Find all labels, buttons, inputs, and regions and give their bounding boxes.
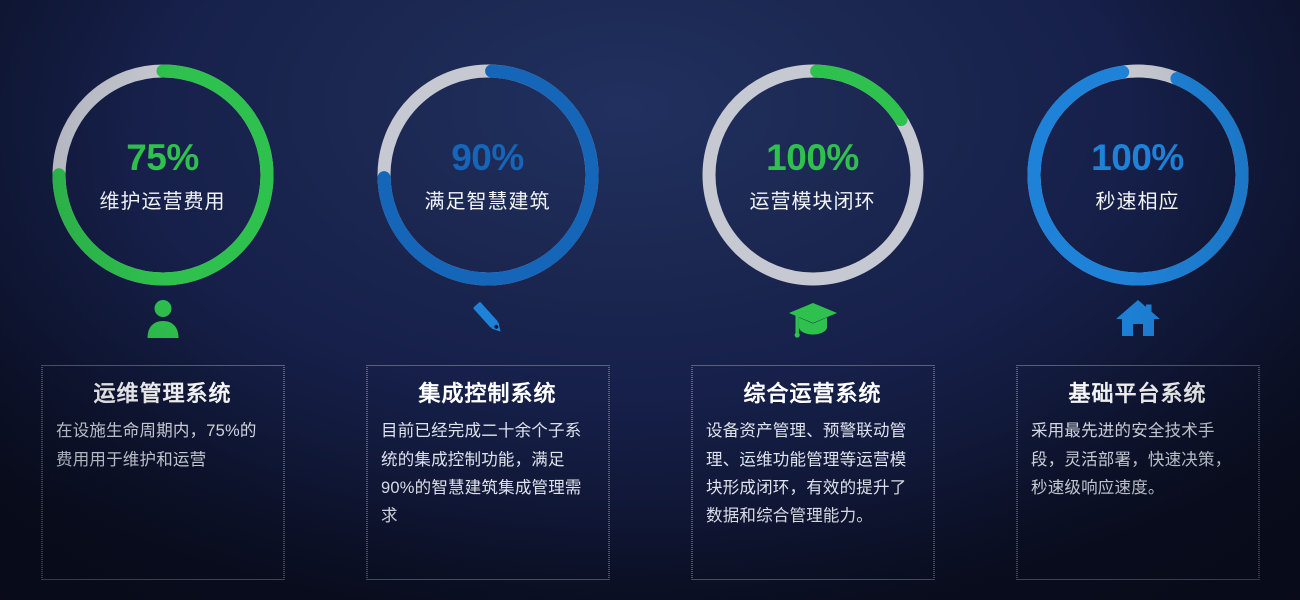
card-body-4: 采用最先进的安全技术手段，灵活部署，快速决策，秒速级响应速度。 (1031, 417, 1244, 502)
metrics-grid: 75% 维护运营费用 运维管理系统 在设施生命周期内，75%的费用用于维护和运营… (0, 0, 1300, 600)
metric-column-4: 100% 秒速相应 基础平台系统 采用最先进的安全技术手段，灵活部署，快速决策，… (975, 0, 1300, 600)
ring-label-3: 运营模块闭环 (750, 192, 876, 212)
ring-center-3: 100% 运营模块闭环 (698, 60, 928, 290)
ring-percent-3: 100% (766, 139, 859, 176)
info-card-2: 集成控制系统 目前已经完成二十余个子系统的集成控制功能，满足90%的智慧建筑集成… (366, 365, 609, 580)
ring-center-2: 90% 满足智慧建筑 (373, 60, 603, 290)
ring-center-1: 75% 维护运营费用 (48, 60, 278, 290)
card-body-2: 目前已经完成二十余个子系统的集成控制功能，满足90%的智慧建筑集成管理需求 (381, 417, 594, 531)
card-title-3: 综合运营系统 (706, 382, 919, 406)
graduation-cap-icon-svg (787, 296, 839, 340)
card-title-2: 集成控制系统 (381, 382, 594, 406)
metric-column-1: 75% 维护运营费用 运维管理系统 在设施生命周期内，75%的费用用于维护和运营 (0, 0, 325, 600)
progress-ring-3: 100% 运营模块闭环 (698, 60, 928, 290)
card-title-4: 基础平台系统 (1031, 382, 1244, 406)
progress-ring-4: 100% 秒速相应 (1023, 60, 1253, 290)
card-body-1: 在设施生命周期内，75%的费用用于维护和运营 (56, 417, 269, 474)
card-body-3: 设备资产管理、预警联动管理、运维功能管理等运营模块形成闭环，有效的提升了数据和综… (706, 417, 919, 531)
card-title-1: 运维管理系统 (56, 382, 269, 406)
metric-column-2: 90% 满足智慧建筑 集成控制系统 目前已经完成二十余个子系统的集成控制功能，满… (325, 0, 650, 600)
ring-center-4: 100% 秒速相应 (1023, 60, 1253, 290)
pencil-icon-svg (467, 297, 509, 339)
metric-column-3: 100% 运营模块闭环 综合运营系统 设备资产管理、预警联动管理、运维功能管理等… (650, 0, 975, 600)
ring-percent-4: 100% (1091, 139, 1184, 176)
pencil-icon (461, 294, 515, 342)
ring-label-2: 满足智慧建筑 (425, 192, 551, 212)
progress-ring-2: 90% 满足智慧建筑 (373, 60, 603, 290)
graduation-cap-icon (786, 294, 840, 342)
ring-percent-1: 75% (126, 139, 199, 176)
ring-percent-2: 90% (451, 139, 524, 176)
info-card-3: 综合运营系统 设备资产管理、预警联动管理、运维功能管理等运营模块形成闭环，有效的… (691, 365, 934, 580)
user-icon-svg (141, 296, 185, 340)
home-icon (1111, 294, 1165, 342)
user-icon (136, 294, 190, 342)
ring-label-4: 秒速相应 (1096, 192, 1180, 212)
info-card-4: 基础平台系统 采用最先进的安全技术手段，灵活部署，快速决策，秒速级响应速度。 (1016, 365, 1259, 580)
progress-ring-1: 75% 维护运营费用 (48, 60, 278, 290)
info-card-1: 运维管理系统 在设施生命周期内，75%的费用用于维护和运营 (41, 365, 284, 580)
ring-label-1: 维护运营费用 (100, 192, 226, 212)
home-icon-svg (1115, 296, 1161, 340)
